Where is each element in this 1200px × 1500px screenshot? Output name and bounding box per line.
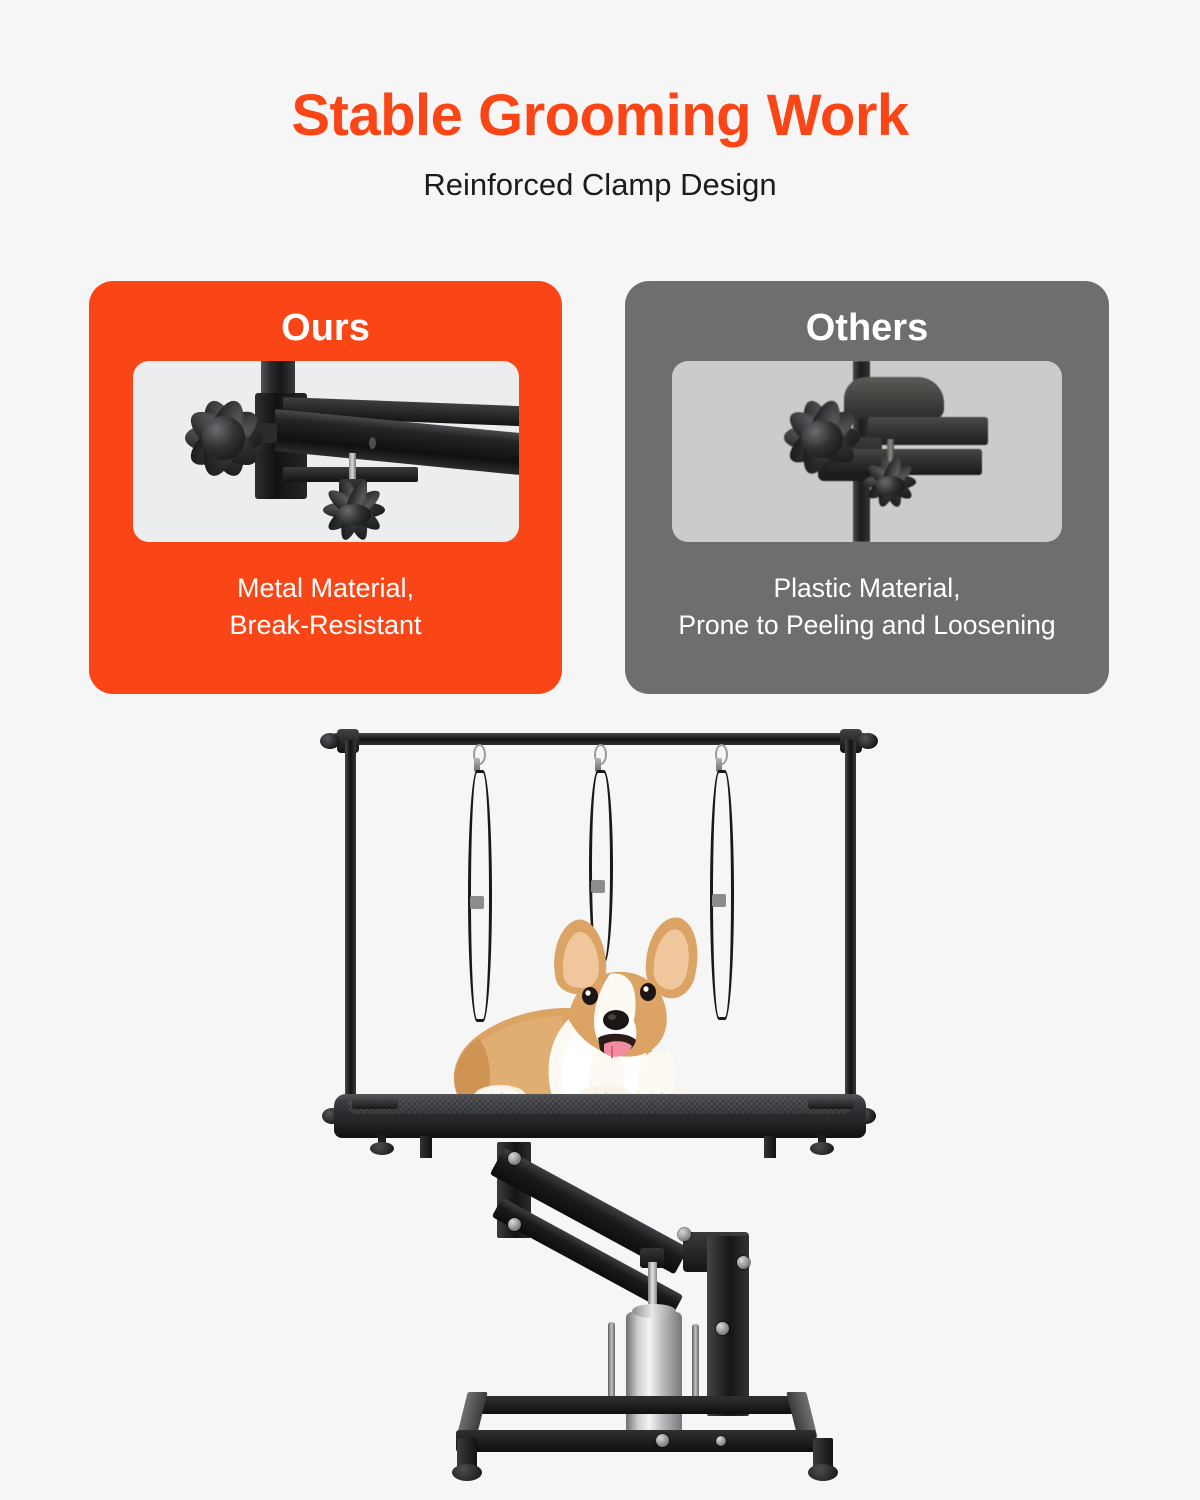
comparison-card-others: Others Plastic Material, Prone to Peelin… [625,281,1109,694]
page-subtitle: Reinforced Clamp Design [0,150,1200,204]
card-caption-others: Plastic Material, Prone to Peeling and L… [678,542,1055,644]
clamp-photo-others [672,361,1062,542]
lift-bolt [678,1228,691,1241]
tabletop-clamp-left [352,1098,398,1109]
tabletop-support-right [764,1136,776,1158]
card-caption-ours: Metal Material, Break-Resistant [229,542,421,644]
loop-slider [591,880,605,893]
comparison-cards: Ours Metal Material, Break-Resi [89,281,1109,694]
tightening-knob-icon [864,469,916,503]
header: Stable Grooming Work Reinforced Clamp De… [0,0,1200,204]
plastic-clamp-illustration [672,361,1062,542]
page-title: Stable Grooming Work [0,0,1200,150]
clamp-photo-ours [133,361,519,542]
hydraulic-cylinder [626,1312,682,1434]
tabletop-clamp-right [808,1098,854,1109]
lift-bolt [737,1256,750,1269]
grooming-arm-post-left [345,740,356,1128]
corgi-dog [440,900,760,1110]
base-bolt [716,1436,726,1446]
grooming-arm-post-right [845,740,856,1128]
lift-bolt [716,1322,729,1335]
arm-knob-top-left-icon [320,733,340,749]
star-knob-icon [784,405,860,473]
metal-clamp-illustration [133,361,519,542]
tightening-knob-icon [323,495,385,535]
lift-bolt [508,1218,521,1231]
base-rail-upper [470,1396,800,1414]
comparison-card-ours: Ours Metal Material, Break-Resi [89,281,562,694]
card-title-others: Others [806,281,928,351]
clamp-arm-hole [369,437,376,449]
arm-knob-top-right-icon [858,733,878,749]
base-foot-left [452,1438,482,1486]
base-bolt [656,1434,669,1447]
base-rail-lower [456,1430,816,1452]
tabletop-edge [334,1122,866,1138]
tabletop-adjuster-left [370,1134,394,1156]
base-foot-right [808,1438,838,1486]
star-knob-icon [185,399,263,477]
clamp-arm-upper [868,417,988,445]
tabletop-adjuster-right [810,1134,834,1156]
lift-bolt [508,1152,521,1165]
tabletop-support-left [420,1136,432,1158]
card-title-ours: Ours [281,281,370,351]
